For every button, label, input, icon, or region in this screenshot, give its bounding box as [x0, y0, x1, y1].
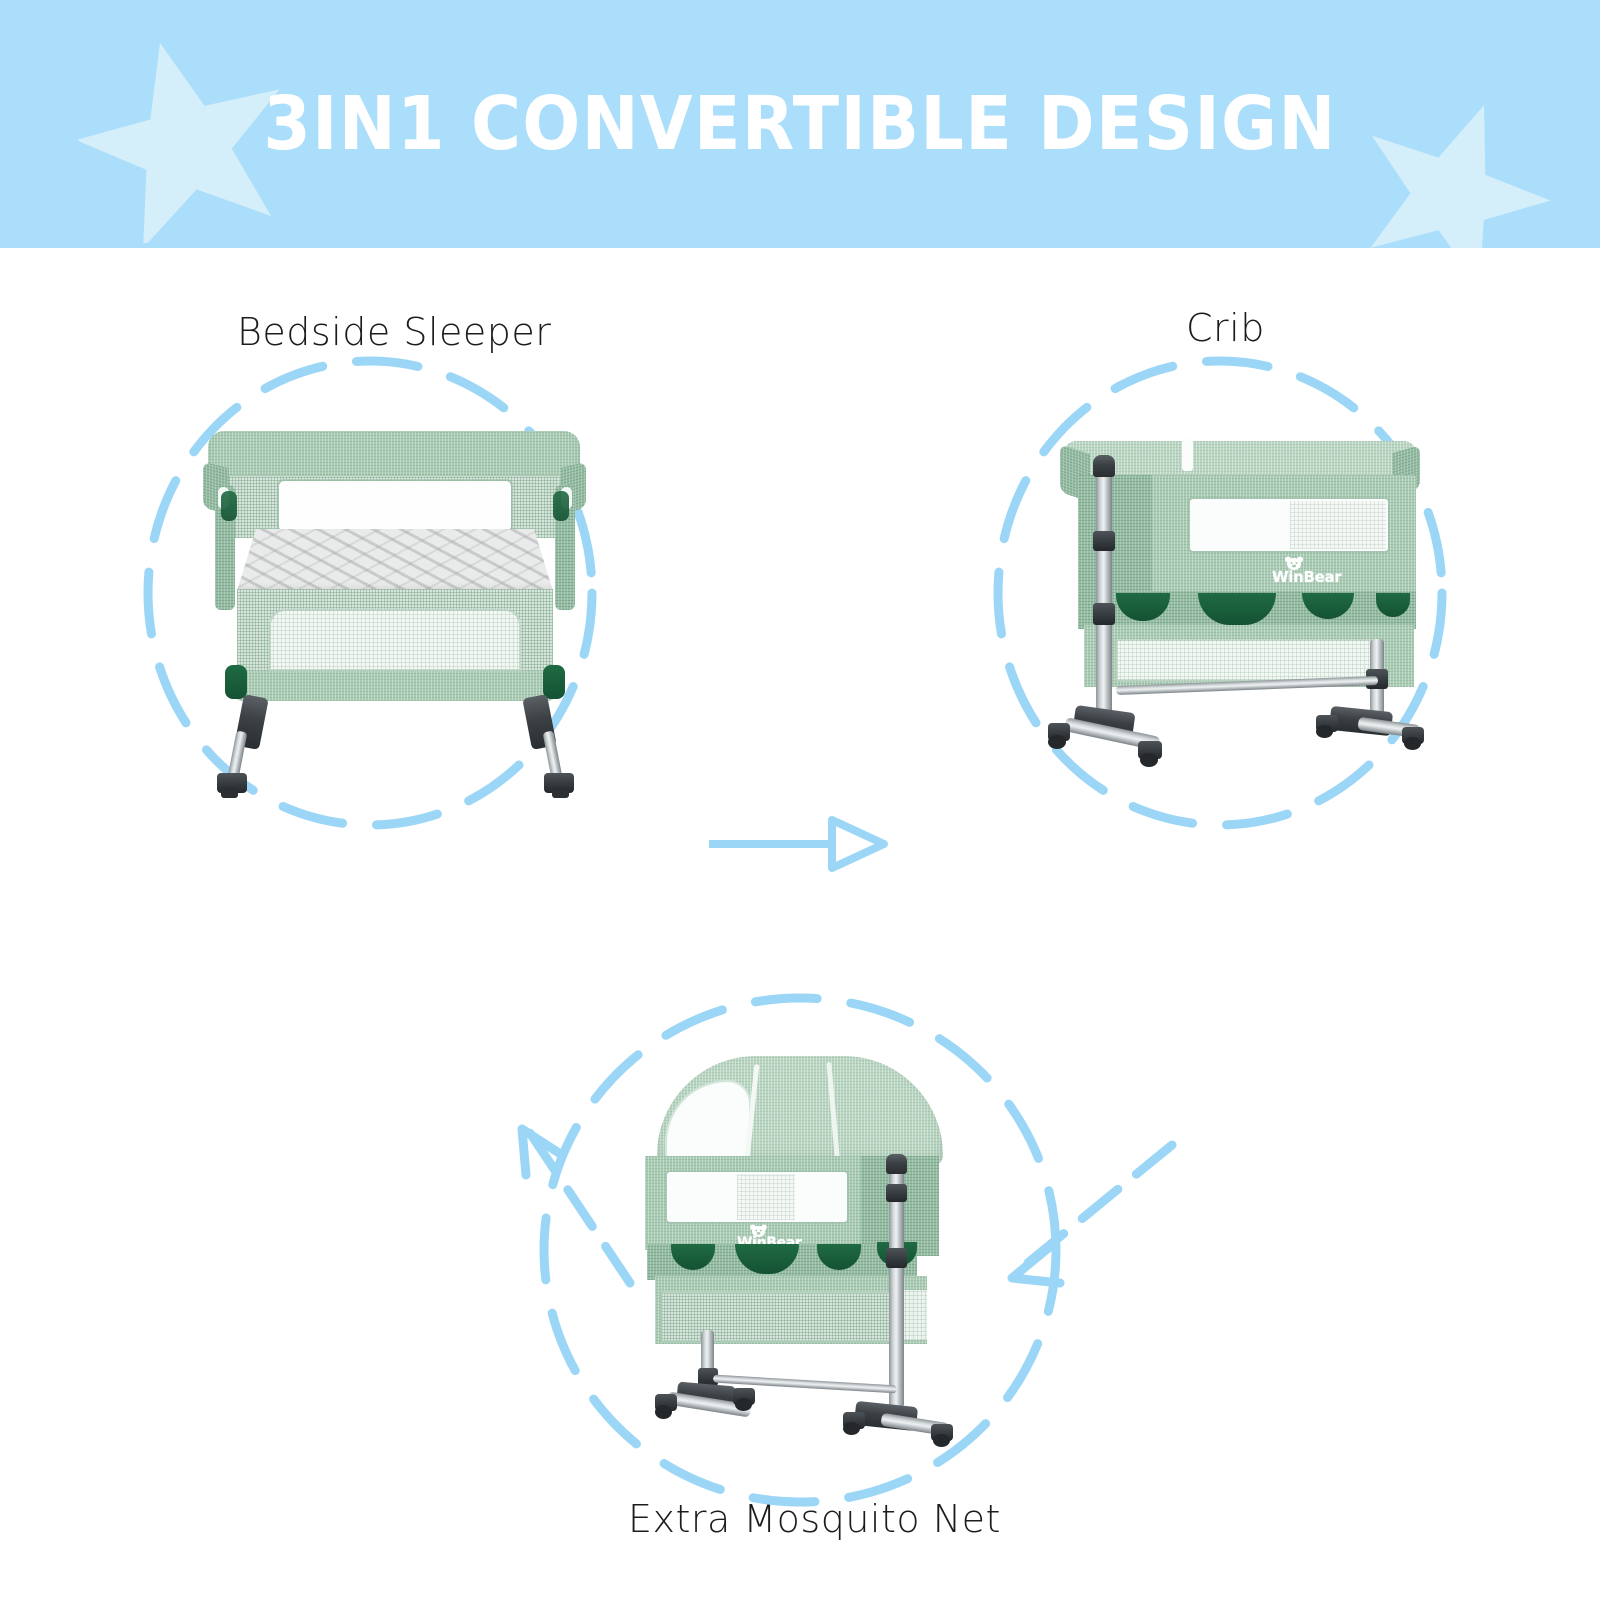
bassinet-upper-tab-left	[221, 491, 237, 521]
bassinet-mattress	[237, 529, 553, 591]
bassinet-corner-tab-right	[543, 665, 565, 699]
crib-top-strap	[1182, 439, 1193, 471]
diagram-stage: Bedside Sleeper Crib Extra Mosquito Net	[0, 248, 1600, 1600]
node-label-crib: Crib	[1186, 306, 1265, 350]
crib-wheel-right-rear	[1404, 737, 1421, 750]
crib-stand-left-post	[1096, 461, 1112, 719]
product-image-crib: WinBear	[1030, 413, 1430, 803]
product-image-mosquito-net: WinBear	[625, 1028, 985, 1488]
bassinet-upper-tab-right	[553, 491, 569, 521]
net-wheel-left-rear	[735, 1398, 752, 1411]
crib-wheel-right-front	[1316, 725, 1333, 738]
net-crib-mesh-window-inner	[737, 1174, 795, 1220]
bassinet-wheel-right	[552, 787, 569, 798]
crib-mesh-window-inner	[1290, 501, 1386, 549]
brand-logo-text: WinBear	[1272, 568, 1341, 586]
crib-stand-left-post-cap	[1093, 455, 1115, 477]
net-wheel-left-front	[655, 1405, 672, 1419]
page-title: 3IN1 CONVERTIBLE DESIGN	[64, 0, 1536, 248]
crib-lower-mesh-window	[1116, 639, 1380, 681]
net-crib-lower-mesh	[661, 1292, 893, 1342]
bassinet-wheel-left	[221, 787, 238, 798]
crib-wheel-left-front	[1048, 735, 1066, 749]
bassinet-corner-tab-left	[225, 665, 247, 699]
net-stand-right-clamp-2	[886, 1248, 907, 1268]
crib-stand-left-clamp	[1093, 531, 1115, 551]
bassinet-front-rail-window	[269, 609, 521, 671]
bassinet-base-band	[233, 671, 557, 701]
net-wheel-right-rear	[933, 1434, 950, 1447]
net-stand-right-post-cap	[886, 1154, 907, 1174]
crib-left-end-panel	[1078, 475, 1152, 593]
crib-stand-left-clamp-2	[1093, 603, 1115, 625]
node-label-bedside-sleeper: Bedside Sleeper	[237, 310, 551, 354]
product-image-bedside-sleeper	[195, 413, 595, 793]
net-wheel-right-front	[843, 1422, 860, 1435]
arrow-bedside-to-crib	[706, 808, 891, 878]
bassinet-back-mesh-window	[279, 481, 511, 531]
header-banner: 3IN1 CONVERTIBLE DESIGN	[0, 0, 1600, 248]
net-stand-right-clamp	[886, 1184, 907, 1202]
crib-wheel-left-rear	[1140, 753, 1158, 767]
